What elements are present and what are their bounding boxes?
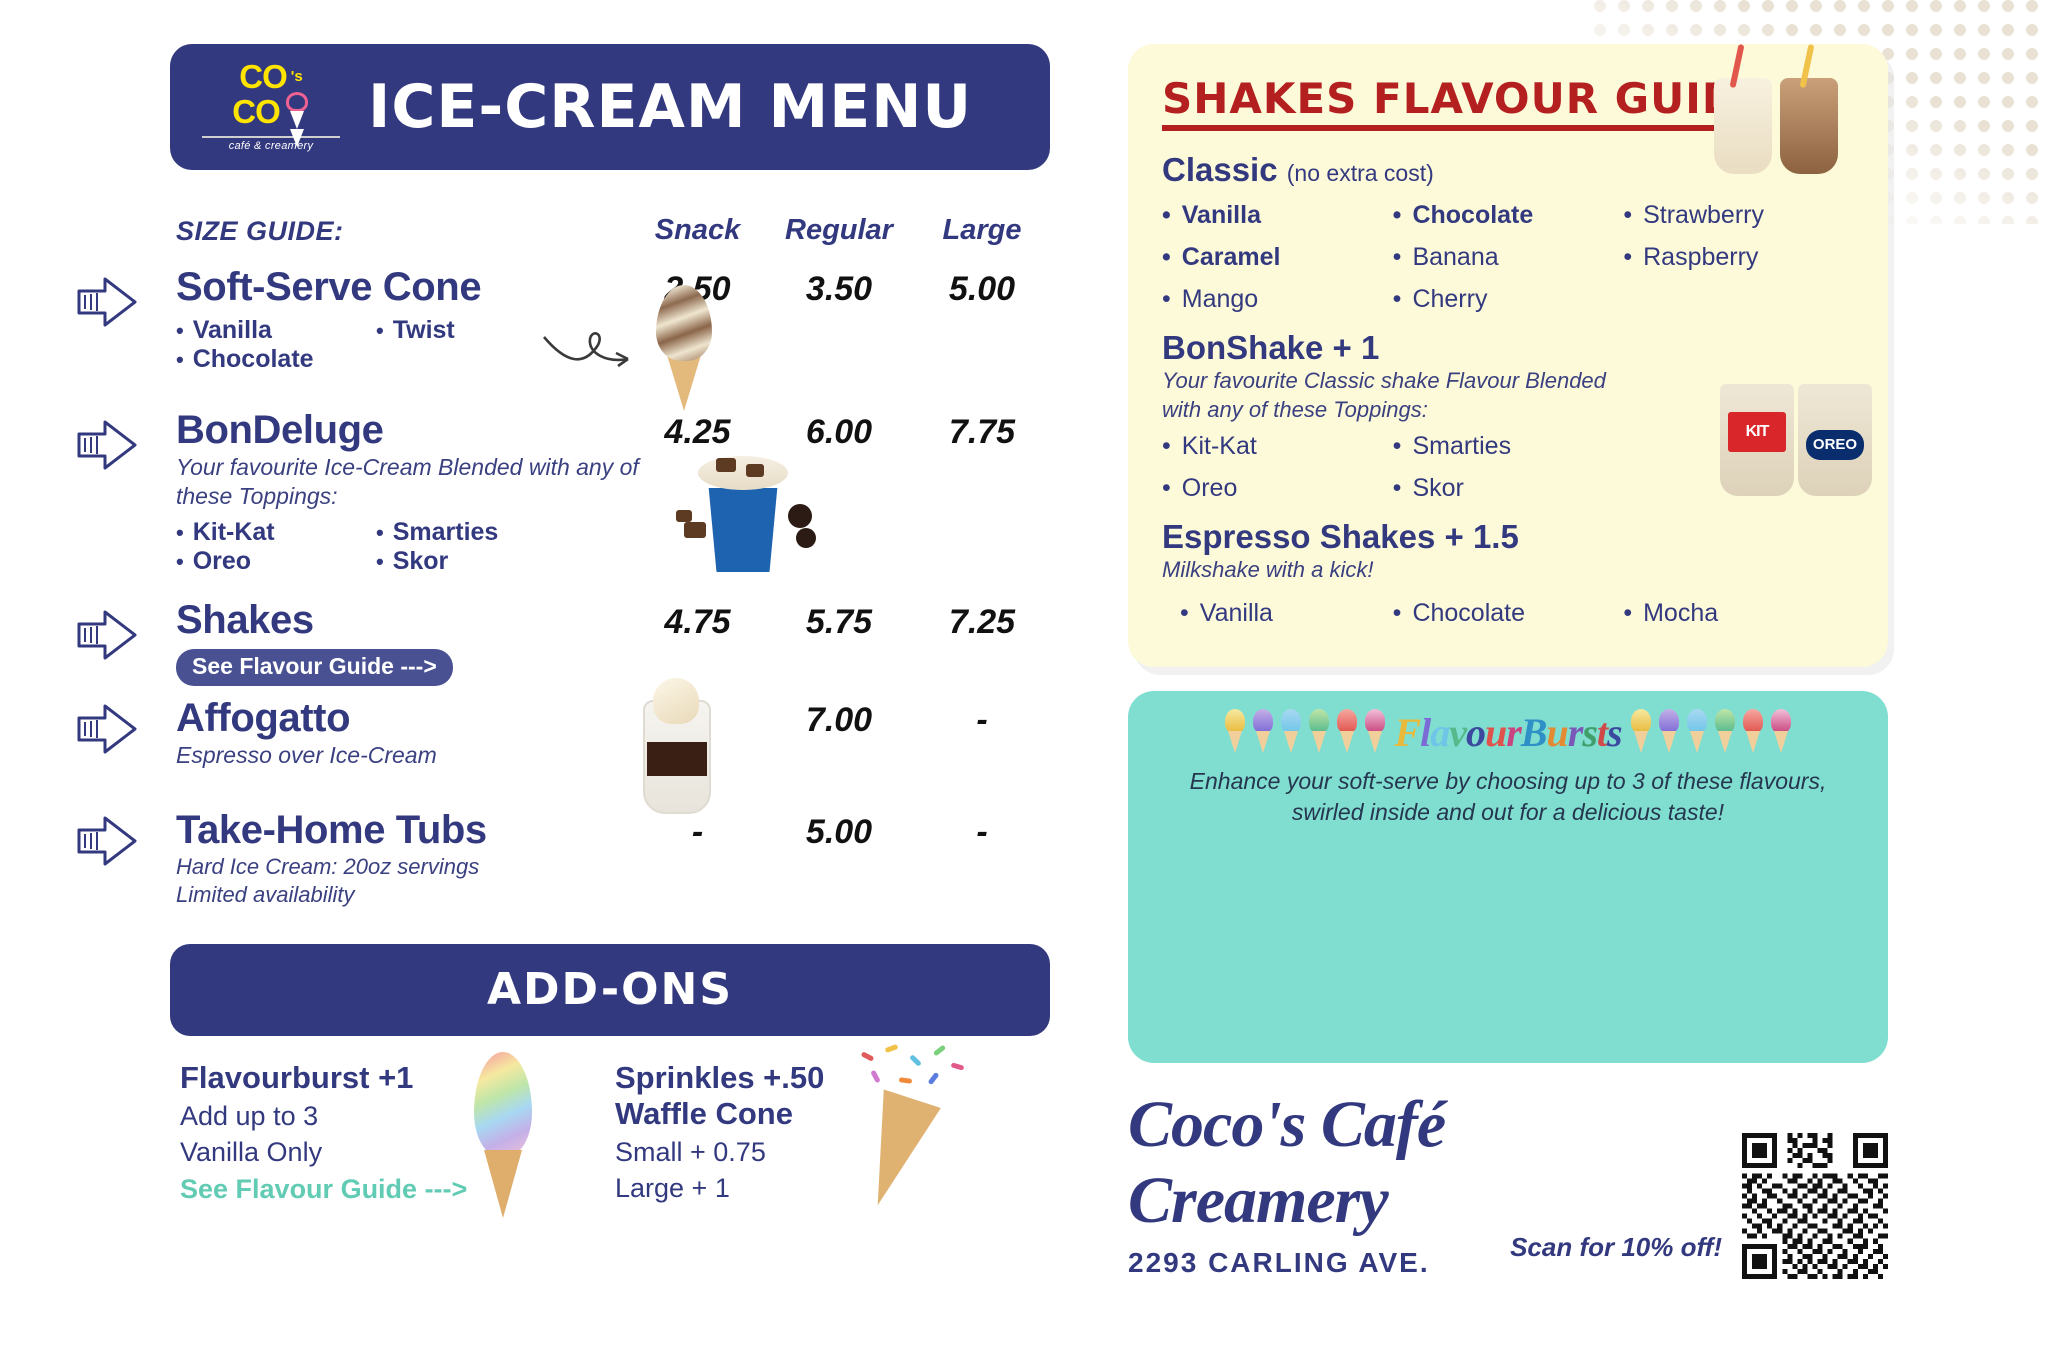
see-flavour-guide-pill-shakes[interactable]: See Flavour Guide ---> <box>176 649 453 686</box>
item-name: Affogatto <box>176 696 631 741</box>
kitkat-label: KIT <box>1728 412 1786 452</box>
shakes-guide-title: SHAKES FLAVOUR GUIDE <box>1162 74 1767 131</box>
addon-line: Large + 1 <box>615 1173 1050 1204</box>
qr-code[interactable] <box>1742 1133 1888 1279</box>
item-price-snack: - <box>631 813 764 852</box>
pointing-hand-icon <box>75 273 153 331</box>
classic-label: Classic <box>1162 151 1278 188</box>
coco-logo: CO 's CO café & creamery <box>196 62 346 152</box>
item-price-large: 7.25 <box>914 603 1050 642</box>
curly-arrow-icon <box>540 323 640 381</box>
flavour-item: Vanilla <box>1180 599 1393 628</box>
right-column: SHAKES FLAVOUR GUIDE Classic (no extra c… <box>1128 44 1888 1279</box>
mini-cone-icon <box>1768 709 1794 755</box>
item-name: Take-Home Tubs <box>176 808 631 853</box>
flavour-item: Caramel <box>1162 243 1393 272</box>
menu-item-bondeluge: BonDeluge 4.25 6.00 7.75 Your favourite … <box>170 408 1050 576</box>
flavourbursts-header: FlavourBursts <box>1152 709 1864 756</box>
pointing-hand-icon <box>75 606 153 664</box>
flavourbursts-wordmark: FlavourBursts <box>1394 709 1621 756</box>
flavourbursts-description-line1: Enhance your soft-serve by choosing up t… <box>1152 766 1864 797</box>
addon-title: Sprinkles +.50 <box>615 1060 1050 1096</box>
mini-cone-icon <box>1362 709 1388 755</box>
logo-divider <box>202 136 340 138</box>
size-guide-header: SIZE GUIDE: Snack Regular Large <box>170 214 1050 247</box>
bonshake-cups-photo: KIT OREO <box>1714 330 1894 500</box>
topping-item: Oreo <box>1162 474 1393 503</box>
flavour-item: Mocha <box>1623 599 1854 628</box>
addon-flavourburst: Flavourburst +1 Add up to 3 Vanilla Only… <box>180 1060 615 1205</box>
menu-item-soft-serve-cone: Soft-Serve Cone 2.50 3.50 5.00 Vanilla T… <box>170 265 1050 374</box>
flavour-option: Chocolate <box>176 345 376 374</box>
column-header-snack: Snack <box>631 214 764 247</box>
sprinkles-photo <box>855 1044 975 1096</box>
logo-tagline: café & creamery <box>196 141 346 152</box>
menu-item-take-home-tubs: Take-Home Tubs - 5.00 - Hard Ice Cream: … <box>170 808 1050 909</box>
topping-option: Smarties <box>376 518 506 547</box>
mini-cone-icon <box>1712 709 1738 755</box>
brand-address: 2293 CARLING AVE. <box>1128 1247 1510 1279</box>
topping-item: Kit-Kat <box>1162 432 1393 461</box>
mini-cone-icon <box>1222 709 1248 755</box>
espresso-heading: Espresso Shakes + 1.5 <box>1162 518 1854 556</box>
addons-heading-bar: ADD-ONS <box>170 944 1050 1036</box>
topping-option: Kit-Kat <box>176 518 376 547</box>
bondeluge-cup-photo <box>670 456 820 572</box>
soft-serve-cone-photo <box>640 285 726 413</box>
addons-heading: ADD-ONS <box>487 964 733 1015</box>
item-description: Hard Ice Cream: 20oz servings <box>176 853 646 881</box>
flavour-item: Cherry <box>1393 285 1624 314</box>
column-header-regular: Regular <box>764 214 914 247</box>
addons-grid: Flavourburst +1 Add up to 3 Vanilla Only… <box>170 1060 1050 1205</box>
oreo-label: OREO <box>1806 430 1864 460</box>
item-price-snack: 4.25 <box>631 413 764 452</box>
item-price-regular: 6.00 <box>764 413 914 452</box>
topping-option: Oreo <box>176 547 376 576</box>
size-guide-label: SIZE GUIDE: <box>176 216 631 247</box>
addon-line: Small + 0.75 <box>615 1137 1050 1168</box>
page-title: ICE-CREAM MENU <box>368 72 972 142</box>
item-price-large: - <box>914 813 1050 852</box>
item-description: Espresso over Ice-Cream <box>176 741 646 770</box>
mini-cone-icon <box>1250 709 1276 755</box>
left-menu-column: CO 's CO café & creamery ICE-CREAM MENU … <box>170 44 1050 1205</box>
espresso-description: Milkshake with a kick! <box>1162 556 1622 585</box>
item-description: Your favourite Ice-Cream Blended with an… <box>176 453 646 512</box>
topping-option: Skor <box>376 547 456 576</box>
flavour-option: Twist <box>376 316 463 345</box>
bonshake-description: Your favourite Classic shake Flavour Ble… <box>1162 367 1622 424</box>
pointing-hand-icon <box>75 700 153 758</box>
flavour-item: Banana <box>1393 243 1624 272</box>
menu-item-shakes: Shakes 4.75 5.75 7.25 See Flavour Guide … <box>170 598 1050 686</box>
mini-cone-icon <box>1306 709 1332 755</box>
rainbow-cone-photo <box>448 1052 558 1222</box>
scan-promo-text: Scan for 10% off! <box>1510 1232 1722 1263</box>
mini-cones-left <box>1222 709 1388 755</box>
flavour-item: Raspberry <box>1623 243 1854 272</box>
addon-title-secondary: Waffle Cone <box>615 1096 1050 1132</box>
footer: Coco's Café Creamery 2293 CARLING AVE. S… <box>1128 1087 1888 1279</box>
item-name: BonDeluge <box>176 408 631 453</box>
menu-item-affogatto: Affogatto 7.00 - Espresso over Ice-Cream <box>170 696 1050 770</box>
addon-sprinkles-waffle: Sprinkles +.50 Waffle Cone Small + 0.75 … <box>615 1060 1050 1205</box>
brand-name: Coco's Café Creamery <box>1128 1087 1510 1239</box>
mini-cone-icon <box>1656 709 1682 755</box>
item-name: Soft-Serve Cone <box>176 265 631 310</box>
item-price-snack: 4.75 <box>631 603 764 642</box>
menu-page: CO 's CO café & creamery ICE-CREAM MENU … <box>0 0 2048 1365</box>
flavourbursts-card: FlavourBursts Enhance your soft-serve by… <box>1128 691 1888 1063</box>
menu-title-bar: CO 's CO café & creamery ICE-CREAM MENU <box>170 44 1050 170</box>
flavour-item: Mango <box>1162 285 1393 314</box>
item-description-secondary: Limited availability <box>176 881 646 909</box>
pointing-hand-icon <box>75 416 153 474</box>
flavour-option: Vanilla <box>176 316 376 345</box>
classic-flavours: Vanilla Caramel Mango Chocolate Banana C… <box>1162 201 1854 327</box>
footer-brand: Coco's Café Creamery 2293 CARLING AVE. <box>1128 1087 1510 1279</box>
mini-cone-icon <box>1334 709 1360 755</box>
espresso-flavours: Vanilla Chocolate Mocha <box>1162 599 1854 641</box>
column-header-large: Large <box>914 214 1050 247</box>
logo-apostrophe: 's <box>291 69 303 84</box>
logo-text-line2: CO <box>232 97 280 127</box>
item-price-regular: 3.50 <box>764 270 914 309</box>
item-price-regular: 5.00 <box>764 813 914 852</box>
item-price-large: 5.00 <box>914 270 1050 309</box>
flavour-item: Strawberry <box>1623 201 1854 230</box>
item-price-large: 7.75 <box>914 413 1050 452</box>
mini-cone-icon <box>1740 709 1766 755</box>
flavour-item: Chocolate <box>1393 201 1624 230</box>
shakes-photo <box>1708 50 1878 180</box>
item-price-large: - <box>914 701 1050 740</box>
mini-cone-icon <box>1684 709 1710 755</box>
flavour-item: Vanilla <box>1162 201 1393 230</box>
item-price-regular: 5.75 <box>764 603 914 642</box>
item-price-regular: 7.00 <box>764 701 914 740</box>
item-topping-list: Kit-Kat Smarties Oreo Skor <box>176 518 1050 576</box>
topping-item: Skor <box>1393 474 1624 503</box>
topping-item: Smarties <box>1393 432 1624 461</box>
waffle-cone-photo <box>847 1086 965 1212</box>
classic-note: (no extra cost) <box>1287 160 1434 186</box>
mini-cone-icon <box>1628 709 1654 755</box>
affogatto-glass-photo <box>625 678 729 818</box>
ice-cream-cone-icon <box>284 92 310 132</box>
item-name: Shakes <box>176 598 631 643</box>
mini-cones-right <box>1628 709 1794 755</box>
flavourbursts-description-line2: swirled inside and out for a delicious t… <box>1152 797 1864 828</box>
shakes-flavour-guide-card: SHAKES FLAVOUR GUIDE Classic (no extra c… <box>1128 44 1888 667</box>
mini-cone-icon <box>1278 709 1304 755</box>
flavour-item: Chocolate <box>1393 599 1624 628</box>
pointing-hand-icon <box>75 812 153 870</box>
logo-text-line1: CO <box>239 62 287 92</box>
